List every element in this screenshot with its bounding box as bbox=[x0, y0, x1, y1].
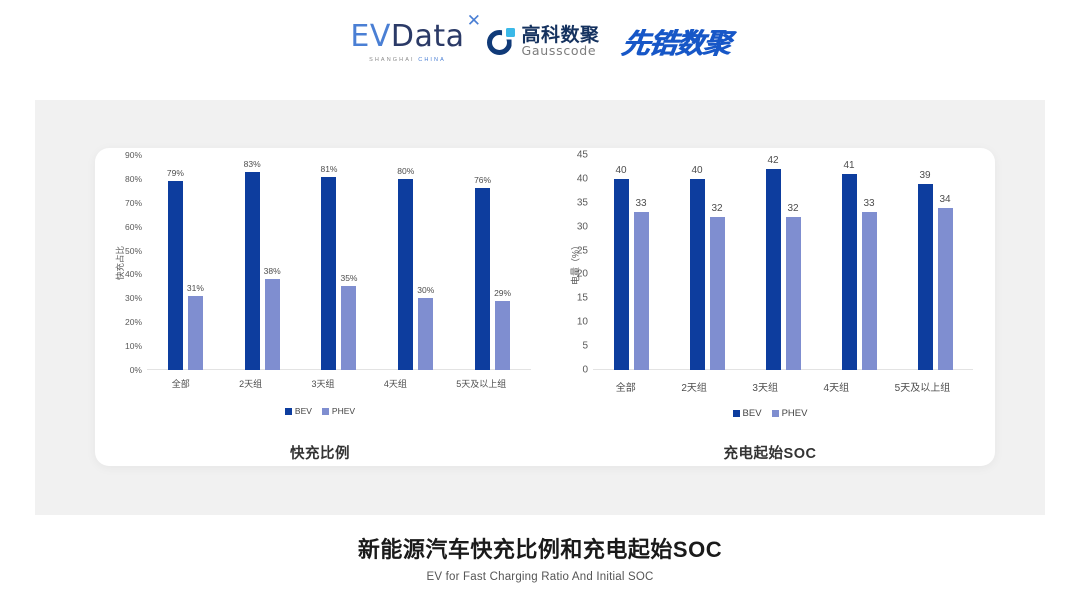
bar-slot: 35% bbox=[341, 155, 356, 370]
evdata-tagline-country: CHINA bbox=[418, 57, 446, 63]
x-axis-label: 3天组 bbox=[752, 379, 778, 394]
slide-root: EVData ✕ SHANGHAI CHINA 高科数聚 Gausscode 先… bbox=[0, 0, 1080, 608]
y-tick-label: 0 bbox=[582, 365, 588, 376]
x-axis-label: 2天组 bbox=[239, 377, 262, 390]
bar-bev[interactable]: 39 bbox=[918, 184, 933, 370]
x-axis-label: 5天及以上组 bbox=[895, 379, 951, 394]
evdata-tagline: SHANGHAI CHINA bbox=[369, 57, 446, 63]
legend-item-phev[interactable]: PHEV bbox=[322, 406, 355, 416]
bar-slot: 41 bbox=[842, 155, 857, 370]
bar-slot: 80% bbox=[398, 155, 413, 370]
chart-title-left: 快充比例 bbox=[95, 442, 545, 463]
bar-phev[interactable]: 32 bbox=[786, 217, 801, 370]
y-tick-label: 35 bbox=[577, 197, 588, 208]
y-tick-label: 50% bbox=[125, 246, 142, 256]
bar-value-label: 31% bbox=[187, 283, 204, 293]
bar-group: 4133 bbox=[842, 155, 877, 370]
chart-fast-charging-ratio: 快充占比 0%10%20%30%40%50%60%70%80%90% 79%31… bbox=[95, 155, 545, 455]
bar-value-label: 40 bbox=[615, 165, 626, 176]
y-tick-label: 20 bbox=[577, 269, 588, 280]
y-tick-label: 0% bbox=[130, 365, 142, 375]
bar-group: 80%30% bbox=[398, 155, 433, 370]
bar-value-label: 32 bbox=[711, 203, 722, 214]
x-axis-label: 5天及以上组 bbox=[456, 377, 506, 390]
bar-phev[interactable]: 30% bbox=[418, 298, 433, 370]
x-axis-label: 4天组 bbox=[824, 379, 850, 394]
bar-bev[interactable]: 40 bbox=[690, 179, 705, 370]
bar-value-label: 80% bbox=[397, 166, 414, 176]
bar-slot: 31% bbox=[188, 155, 203, 370]
y-tick-label: 90% bbox=[125, 150, 142, 160]
legend-swatch bbox=[322, 408, 329, 415]
bar-value-label: 81% bbox=[320, 164, 337, 174]
chart-initial-soc: 电量（%） 051015202530354045 403340324232413… bbox=[545, 155, 995, 455]
bar-slot: 38% bbox=[265, 155, 280, 370]
legend-swatch bbox=[772, 410, 779, 417]
bar-slot: 33 bbox=[862, 155, 877, 370]
y-tick-label: 30 bbox=[577, 221, 588, 232]
plot-area-left: 快充占比 0%10%20%30%40%50%60%70%80%90% 79%31… bbox=[147, 155, 531, 370]
bar-bev[interactable]: 42 bbox=[766, 169, 781, 370]
bars-right: 40334032423241333934 bbox=[593, 155, 973, 370]
bar-bev[interactable]: 83% bbox=[245, 172, 260, 370]
caption-title-en: EV for Fast Charging Ratio And Initial S… bbox=[0, 571, 1080, 583]
y-tick-label: 30% bbox=[125, 293, 142, 303]
bar-value-label: 35% bbox=[340, 273, 357, 283]
bar-phev[interactable]: 32 bbox=[710, 217, 725, 370]
bar-bev[interactable]: 81% bbox=[321, 177, 336, 371]
bar-slot: 79% bbox=[168, 155, 183, 370]
y-tick-label: 25 bbox=[577, 245, 588, 256]
legend-item-bev[interactable]: BEV bbox=[285, 406, 312, 416]
bar-value-label: 76% bbox=[474, 175, 491, 185]
bar-group: 79%31% bbox=[168, 155, 203, 370]
bar-slot: 81% bbox=[321, 155, 336, 370]
gausscode-dot-shape bbox=[506, 28, 515, 37]
caption-title-cn: 新能源汽车快充比例和充电起始SOC bbox=[0, 532, 1080, 564]
x-axis-label: 3天组 bbox=[311, 377, 334, 390]
logo-gausscode: 高科数聚 Gausscode bbox=[487, 26, 600, 58]
bar-value-label: 79% bbox=[167, 168, 184, 178]
bar-phev[interactable]: 38% bbox=[265, 279, 280, 370]
bar-phev[interactable]: 33 bbox=[634, 212, 649, 370]
bars-left: 79%31%83%38%81%35%80%30%76%29% bbox=[147, 155, 531, 370]
y-tick-label: 80% bbox=[125, 174, 142, 184]
bar-slot: 40 bbox=[614, 155, 629, 370]
bar-value-label: 34 bbox=[939, 194, 950, 205]
bar-bev[interactable]: 79% bbox=[168, 181, 183, 370]
bar-group: 4033 bbox=[614, 155, 649, 370]
bar-value-label: 33 bbox=[635, 198, 646, 209]
y-tick-label: 10% bbox=[125, 341, 142, 351]
bar-phev[interactable]: 34 bbox=[938, 208, 953, 370]
evdata-wordmark: EVData ✕ bbox=[350, 22, 464, 52]
bar-slot: 34 bbox=[938, 155, 953, 370]
logo-evdata: EVData ✕ SHANGHAI CHINA bbox=[350, 22, 464, 63]
plot-area-right: 电量（%） 051015202530354045 403340324232413… bbox=[593, 155, 973, 370]
y-tick-label: 40 bbox=[577, 173, 588, 184]
bar-bev[interactable]: 40 bbox=[614, 179, 629, 370]
legend-label: BEV bbox=[743, 408, 762, 419]
bar-group: 83%38% bbox=[245, 155, 280, 370]
y-tick-label: 60% bbox=[125, 222, 142, 232]
bar-phev[interactable]: 35% bbox=[341, 286, 356, 370]
bar-group: 81%35% bbox=[321, 155, 356, 370]
gausscode-text: 高科数聚 Gausscode bbox=[522, 26, 600, 58]
y-tick-label: 40% bbox=[125, 269, 142, 279]
bar-group: 3934 bbox=[918, 155, 953, 370]
bar-bev[interactable]: 80% bbox=[398, 179, 413, 370]
bar-slot: 40 bbox=[690, 155, 705, 370]
logo-bar: EVData ✕ SHANGHAI CHINA 高科数聚 Gausscode 先… bbox=[0, 14, 1080, 70]
y-tick-label: 70% bbox=[125, 198, 142, 208]
bar-slot: 29% bbox=[495, 155, 510, 370]
bar-slot: 83% bbox=[245, 155, 260, 370]
chart-title-right: 充电起始SOC bbox=[545, 442, 995, 463]
legend-swatch bbox=[733, 410, 740, 417]
y-tick-label: 10 bbox=[577, 317, 588, 328]
bar-value-label: 33 bbox=[863, 198, 874, 209]
charts-row: 快充占比 0%10%20%30%40%50%60%70%80%90% 79%31… bbox=[95, 155, 995, 455]
y-tick-label: 20% bbox=[125, 317, 142, 327]
bar-slot: 42 bbox=[766, 155, 781, 370]
bar-slot: 39 bbox=[918, 155, 933, 370]
y-tick-label: 45 bbox=[577, 150, 588, 161]
evdata-x-icon: ✕ bbox=[467, 13, 482, 30]
evdata-word-data: Data bbox=[391, 19, 465, 54]
bar-value-label: 83% bbox=[244, 159, 261, 169]
bar-group: 76%29% bbox=[475, 155, 510, 370]
bar-bev[interactable]: 41 bbox=[842, 174, 857, 370]
bar-value-label: 38% bbox=[264, 266, 281, 276]
bar-phev[interactable]: 31% bbox=[188, 296, 203, 370]
gausscode-c-mark-icon bbox=[487, 28, 515, 56]
caption: 新能源汽车快充比例和充电起始SOC EV for Fast Charging R… bbox=[0, 532, 1080, 583]
x-axis-labels-left: 全部2天组3天组4天组5天及以上组 bbox=[147, 377, 531, 390]
legend-label: BEV bbox=[295, 406, 312, 416]
bar-slot: 32 bbox=[710, 155, 725, 370]
bar-slot: 33 bbox=[634, 155, 649, 370]
gausscode-name-en: Gausscode bbox=[522, 45, 600, 58]
bar-slot: 32 bbox=[786, 155, 801, 370]
logo-xianfeng: 先锆数聚 bbox=[619, 22, 733, 62]
legend-item-phev[interactable]: PHEV bbox=[772, 408, 808, 419]
legend-right: BEVPHEV bbox=[545, 408, 995, 419]
bar-group: 4032 bbox=[690, 155, 725, 370]
bar-value-label: 42 bbox=[767, 155, 778, 166]
bar-phev[interactable]: 33 bbox=[862, 212, 877, 370]
bar-value-label: 41 bbox=[843, 160, 854, 171]
bar-value-label: 29% bbox=[494, 288, 511, 298]
bar-slot: 30% bbox=[418, 155, 433, 370]
legend-item-bev[interactable]: BEV bbox=[733, 408, 762, 419]
evdata-tagline-city: SHANGHAI bbox=[369, 57, 418, 63]
evdata-word-ev: EV bbox=[350, 19, 390, 54]
bar-value-label: 30% bbox=[417, 285, 434, 295]
bar-bev[interactable]: 76% bbox=[475, 188, 490, 370]
legend-label: PHEV bbox=[782, 408, 808, 419]
x-axis-label: 4天组 bbox=[384, 377, 407, 390]
x-axis-label: 全部 bbox=[616, 379, 636, 394]
bar-group: 4232 bbox=[766, 155, 801, 370]
x-axis-labels-right: 全部2天组3天组4天组5天及以上组 bbox=[593, 379, 973, 394]
bar-phev[interactable]: 29% bbox=[495, 301, 510, 370]
y-tick-label: 5 bbox=[582, 341, 588, 352]
legend-left: BEVPHEV bbox=[95, 406, 545, 416]
x-axis-label: 2天组 bbox=[681, 379, 707, 394]
bar-value-label: 39 bbox=[919, 170, 930, 181]
legend-swatch bbox=[285, 408, 292, 415]
bar-value-label: 32 bbox=[787, 203, 798, 214]
x-axis-label: 全部 bbox=[172, 377, 190, 390]
bar-value-label: 40 bbox=[691, 165, 702, 176]
bar-slot: 76% bbox=[475, 155, 490, 370]
y-tick-label: 15 bbox=[577, 293, 588, 304]
legend-label: PHEV bbox=[332, 406, 355, 416]
